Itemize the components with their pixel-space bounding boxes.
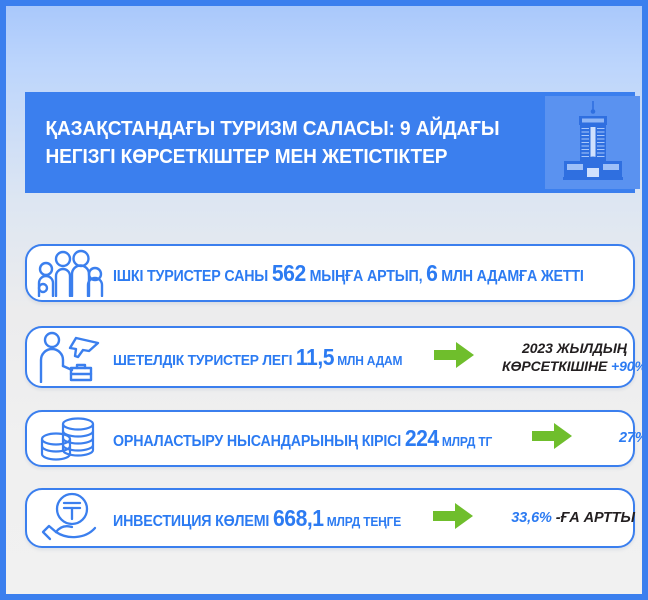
text-part: ШЕТЕЛДІК ТУРИСТЕР ЛЕГІ bbox=[113, 352, 296, 369]
note-text: КӨРСЕТКІШІНЕ bbox=[502, 358, 611, 374]
page-title-line-2: НЕГІЗГІ КӨРСЕТКІШТЕР МЕН ЖЕТІСТІКТЕР bbox=[45, 143, 499, 170]
hand-tenge-icon bbox=[39, 492, 101, 544]
arrow-container bbox=[525, 423, 579, 454]
stat-row-foreign-tourists: ШЕТЕЛДІК ТУРИСТЕР ЛЕГІ 11,5 МЛН АДАМ 202… bbox=[25, 326, 635, 388]
text-part: МЛН АДАМҒА ЖЕТТІ bbox=[437, 268, 583, 285]
text-part: ОРНАЛАСТЫРУ НЫСАНДАРЫНЫҢ КІРІСІ bbox=[113, 433, 405, 450]
text-part: ІШКІ ТУРИСТЕР САНЫ bbox=[113, 268, 272, 285]
row-icon-container bbox=[27, 249, 113, 297]
traveler-airplane-icon bbox=[35, 331, 105, 383]
stat-value: 6 bbox=[426, 260, 437, 286]
stat-row-text: ИНВЕСТИЦИЯ КӨЛЕМІ 668,1 МЛРД ТЕҢГЕ bbox=[113, 507, 401, 530]
row-icon-container bbox=[27, 331, 113, 383]
stat-row-text: ІШКІ ТУРИСТЕР САНЫ 562 МЫҢҒА АРТЫП, 6 МЛ… bbox=[113, 262, 591, 285]
note-highlight: 33,6% bbox=[511, 510, 552, 526]
arrow-right-icon bbox=[434, 342, 474, 373]
stat-row-domestic-tourists: ІШКІ ТУРИСТЕР САНЫ 562 МЫҢҒА АРТЫП, 6 МЛ… bbox=[25, 244, 635, 302]
stat-row-text: ШЕТЕЛДІК ТУРИСТЕР ЛЕГІ 11,5 МЛН АДАМ bbox=[113, 346, 402, 369]
text-part: МЛН АДАМ bbox=[334, 353, 402, 368]
row-icon-container bbox=[27, 492, 113, 544]
text-part: МЫҢҒА АРТЫП, bbox=[306, 268, 426, 285]
note-text: -ҒА АРТТЫ bbox=[552, 510, 635, 526]
stat-row-text: ОРНАЛАСТЫРУ НЫСАНДАРЫНЫҢ КІРІСІ 224 МЛРД… bbox=[113, 427, 492, 450]
stat-value: 11,5 bbox=[296, 344, 334, 370]
page-title-line-1: ҚАЗАҚСТАНДАҒЫ ТУРИЗМ САЛАСЫ: 9 АЙДАҒЫ bbox=[45, 115, 499, 142]
stat-row-note: 33,6% -ҒА АРТТЫ bbox=[480, 509, 648, 528]
note-line: 33,6% -ҒА АРТТЫ bbox=[480, 509, 648, 528]
note-text: 2023 ЖЫЛДЫҢ bbox=[522, 340, 627, 356]
arrow-container bbox=[426, 503, 480, 534]
stat-row-investment-volume: ИНВЕСТИЦИЯ КӨЛЕМІ 668,1 МЛРД ТЕҢГЕ 33,6%… bbox=[25, 488, 635, 548]
row-icon-container bbox=[27, 415, 113, 463]
text-part: МЛРД ТГ bbox=[439, 434, 492, 449]
stat-value: 668,1 bbox=[273, 505, 324, 531]
stat-row-note: 27% ӨСІМ bbox=[579, 429, 648, 448]
note-highlight: +90% bbox=[611, 358, 647, 374]
emblem-container bbox=[545, 96, 640, 189]
stat-row-accommodation-revenue: ОРНАЛАСТЫРУ НЫСАНДАРЫНЫҢ КІРІСІ 224 МЛРД… bbox=[25, 410, 635, 467]
text-part: ИНВЕСТИЦИЯ КӨЛЕМІ bbox=[113, 513, 273, 530]
text-part: МЛРД ТЕҢГЕ bbox=[324, 514, 401, 529]
coin-stacks-icon bbox=[38, 415, 102, 463]
note-line: 2023 ЖЫЛДЫҢ bbox=[481, 339, 648, 357]
header-band: ҚАЗАҚСТАНДАҒЫ ТУРИЗМ САЛАСЫ: 9 АЙДАҒЫ НЕ… bbox=[25, 92, 635, 193]
page-title: ҚАЗАҚСТАНДАҒЫ ТУРИЗМ САЛАСЫ: 9 АЙДАҒЫ НЕ… bbox=[25, 92, 509, 193]
note-highlight: 27% bbox=[619, 430, 648, 446]
arrow-right-icon bbox=[433, 503, 473, 534]
arrow-right-icon bbox=[532, 423, 572, 454]
government-building-icon bbox=[561, 99, 625, 186]
note-line: КӨРСЕТКІШІНЕ +90% bbox=[481, 357, 648, 375]
note-line: 27% ӨСІМ bbox=[579, 429, 648, 448]
stat-value: 562 bbox=[272, 260, 306, 286]
stat-row-note: 2023 ЖЫЛДЫҢ КӨРСЕТКІШІНЕ +90% bbox=[481, 339, 648, 375]
stat-value: 224 bbox=[405, 425, 439, 451]
infographic-poster: ҚАЗАҚСТАНДАҒЫ ТУРИЗМ САЛАСЫ: 9 АЙДАҒЫ НЕ… bbox=[0, 0, 648, 600]
family-group-icon bbox=[34, 249, 106, 297]
arrow-container bbox=[427, 342, 481, 373]
